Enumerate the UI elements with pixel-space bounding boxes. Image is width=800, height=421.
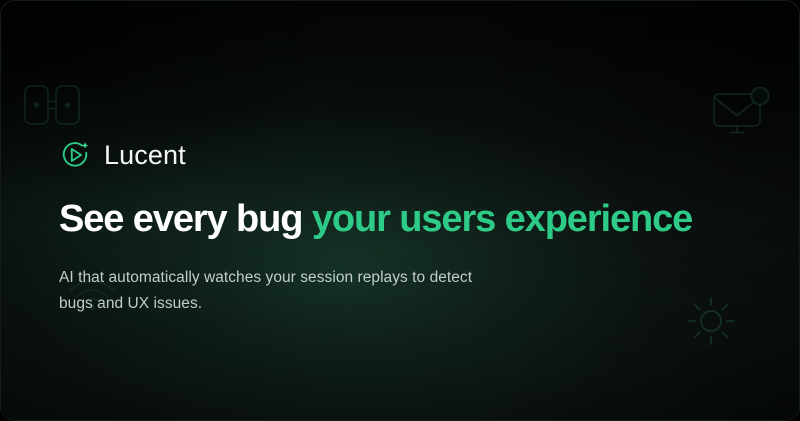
headline-accent-text: your users experience <box>312 198 692 240</box>
subtitle-line-1: AI that automatically watches your sessi… <box>59 265 489 290</box>
brand-name: Lucent <box>104 142 186 169</box>
brand-lockup: Lucent <box>59 135 741 175</box>
page-title: See every bug your users experience <box>59 199 741 240</box>
hero-content: Lucent See every bug your users experien… <box>59 135 741 331</box>
subtitle-line-2: bugs and UX issues. <box>59 291 489 316</box>
headline-plain-text: See every bug <box>59 198 312 240</box>
hero-banner: Lucent See every bug your users experien… <box>0 0 800 421</box>
play-circle-sparkle-icon <box>59 139 91 171</box>
page-subtitle: AI that automatically watches your sessi… <box>59 265 489 315</box>
